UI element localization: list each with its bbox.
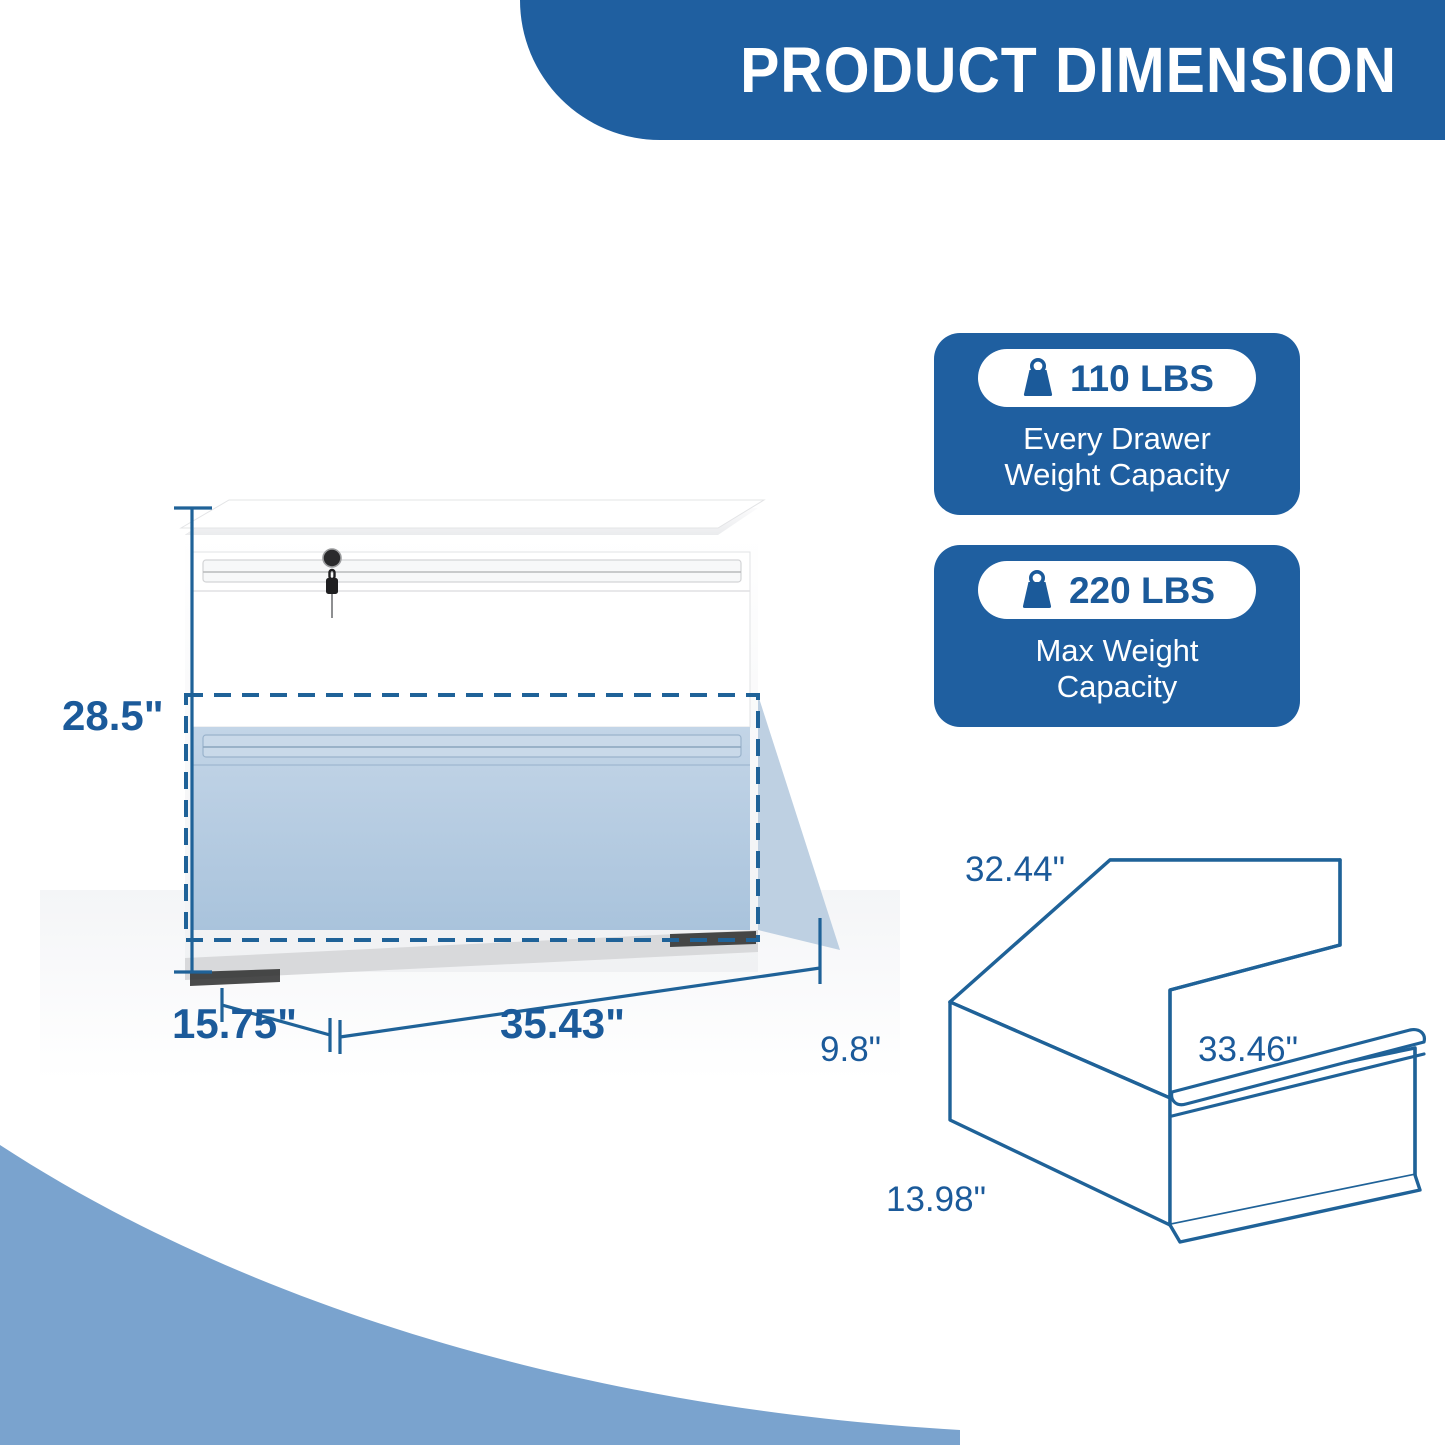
bottom-left-decorative-curve — [0, 1145, 960, 1445]
cabinet-illustration — [40, 460, 900, 1080]
drawer-outer-width-label: 33.46" — [1198, 1030, 1298, 1070]
header-banner: PRODUCT DIMENSION — [520, 0, 1445, 140]
badge-caption-line2: Capacity — [956, 669, 1278, 705]
drawer-depth-label: 13.98" — [886, 1180, 986, 1220]
cabinet-width-label: 35.43" — [500, 1000, 625, 1048]
badge-caption: Every Drawer Weight Capacity — [956, 421, 1278, 492]
badge-value: 220 LBS — [1069, 572, 1215, 609]
drawer-inner-width-label: 32.44" — [965, 850, 1065, 890]
drawer-handle-bottom — [203, 735, 741, 757]
badge-value-pill: 110 LBS — [978, 349, 1256, 407]
badge-caption-line2: Weight Capacity — [956, 457, 1278, 493]
badge-max-weight-capacity: 220 LBS Max Weight Capacity — [934, 545, 1300, 727]
cabinet-depth-label: 15.75" — [172, 1000, 297, 1048]
product-dimension-infographic: PRODUCT DIMENSION — [0, 0, 1445, 1445]
badge-value-pill: 220 LBS — [978, 561, 1256, 619]
badge-value: 110 LBS — [1070, 360, 1214, 397]
badge-caption: Max Weight Capacity — [956, 633, 1278, 704]
cabinet-height-label: 28.5" — [62, 692, 164, 740]
page-title: PRODUCT DIMENSION — [740, 33, 1397, 107]
badge-every-drawer-weight-capacity: 110 LBS Every Drawer Weight Capacity — [934, 333, 1300, 515]
drawer-height-label: 9.8" — [820, 1030, 881, 1070]
weight-icon — [1019, 570, 1055, 610]
badge-caption-line1: Every Drawer — [956, 421, 1278, 457]
weight-icon — [1020, 358, 1056, 398]
badge-caption-line1: Max Weight — [956, 633, 1278, 669]
drawer-handle-top — [203, 560, 741, 582]
